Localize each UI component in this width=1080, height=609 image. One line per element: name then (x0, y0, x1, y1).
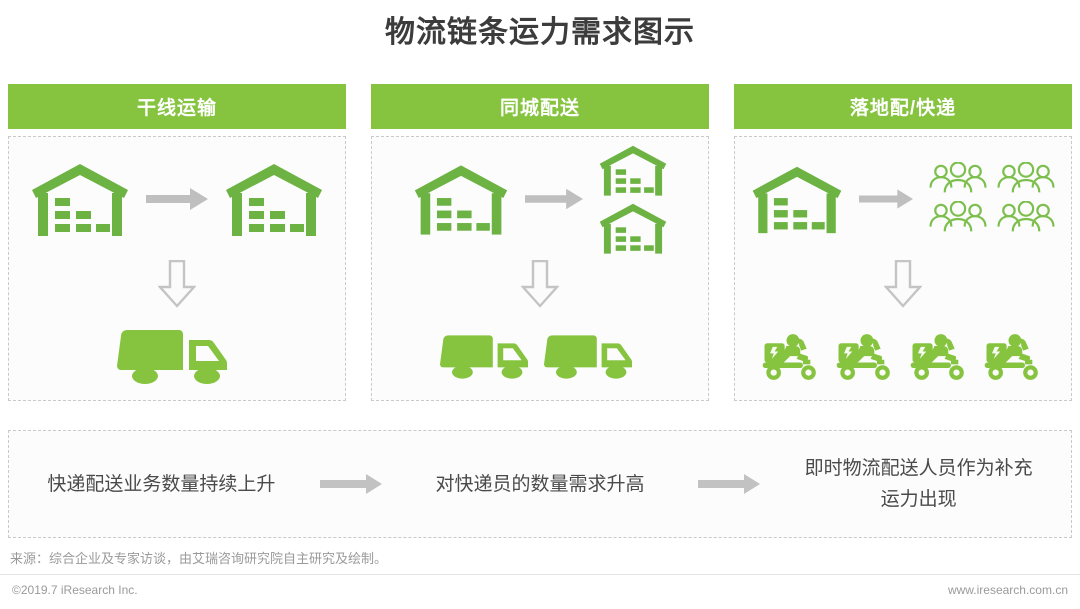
column-header-same-city-delivery: 同城配送 (371, 84, 709, 129)
delivery-scooter-icon (759, 332, 825, 382)
arrow-right-icon (525, 186, 583, 212)
summary-band: 快递配送业务数量持续上升 对快递员的数量需求升高 即时物流配送人员作为补充运力出… (8, 430, 1072, 538)
footer-divider (0, 574, 1080, 575)
warehouse-icon (749, 163, 845, 235)
arrow-down-outline-icon (158, 260, 196, 308)
flow-row-arrow-down (158, 255, 196, 313)
truck-icon (544, 332, 640, 382)
flow-row-top (372, 137, 708, 255)
source-note: 来源：综合企业及专家访谈，由艾瑞咨询研究院自主研究及绘制。 (10, 548, 387, 567)
arrow-right-icon (692, 473, 766, 495)
copyright-text: ©2019.7 iResearch Inc. (12, 583, 138, 597)
warehouse-icon (222, 160, 326, 238)
summary-item-text: 快递配送业务数量持续上升 (47, 469, 275, 500)
stage-column-same-city-delivery: 同城配送 (371, 84, 709, 414)
delivery-scooter-icon (907, 332, 973, 382)
column-header-trunk-transport: 干线运输 (8, 84, 346, 129)
warehouse-icon (28, 160, 132, 238)
flow-row-top (735, 137, 1071, 255)
column-header-last-mile-express: 落地配/快递 (734, 84, 1072, 129)
arrow-right-icon (146, 186, 208, 212)
summary-item-text: 对快递员的数量需求升高 (436, 469, 645, 500)
delivery-scooter-icon (981, 332, 1047, 382)
flow-row-vehicles (9, 313, 345, 400)
stage-column-trunk-transport: 干线运输 (8, 84, 346, 414)
people-group-icon (995, 162, 1057, 198)
arrow-down-outline-icon (884, 260, 922, 308)
footer: ©2019.7 iResearch Inc. www.iresearch.com… (0, 583, 1080, 597)
arrow-right-icon (859, 186, 913, 212)
warehouse-group (597, 143, 669, 255)
truck-icon (117, 326, 237, 388)
people-group-icon (927, 162, 989, 198)
truck-icon (440, 332, 536, 382)
flow-row-vehicles (372, 313, 708, 400)
flow-row-arrow-down (884, 255, 922, 313)
flow-row-vehicles (735, 313, 1071, 400)
website-link[interactable]: www.iresearch.com.cn (948, 583, 1068, 597)
stage-columns: 干线运输 (8, 84, 1072, 414)
warehouse-small-icon (597, 201, 669, 255)
column-body-same-city-delivery (371, 136, 709, 401)
summary-item-text: 即时物流配送人员作为补充运力出现 (804, 453, 1034, 515)
infographic-page: 物流链条运力需求图示 干线运输 (0, 0, 1080, 609)
people-group-icon (927, 201, 989, 237)
column-body-trunk-transport (8, 136, 346, 401)
page-title: 物流链条运力需求图示 (0, 8, 1080, 58)
arrow-right-icon (314, 473, 388, 495)
people-group-icon (995, 201, 1057, 237)
arrow-down-outline-icon (521, 260, 559, 308)
column-body-last-mile-express (734, 136, 1072, 401)
stage-column-last-mile-express: 落地配/快递 (734, 84, 1072, 414)
flow-row-arrow-down (521, 255, 559, 313)
people-group-grid (927, 162, 1057, 237)
warehouse-small-icon (597, 143, 669, 197)
flow-row-top (9, 137, 345, 255)
warehouse-icon (411, 161, 511, 237)
summary-item: 即时物流配送人员作为补充运力出现 (766, 453, 1071, 515)
summary-item: 快递配送业务数量持续上升 (9, 469, 314, 500)
summary-item: 对快递员的数量需求升高 (388, 469, 693, 500)
delivery-scooter-icon (833, 332, 899, 382)
